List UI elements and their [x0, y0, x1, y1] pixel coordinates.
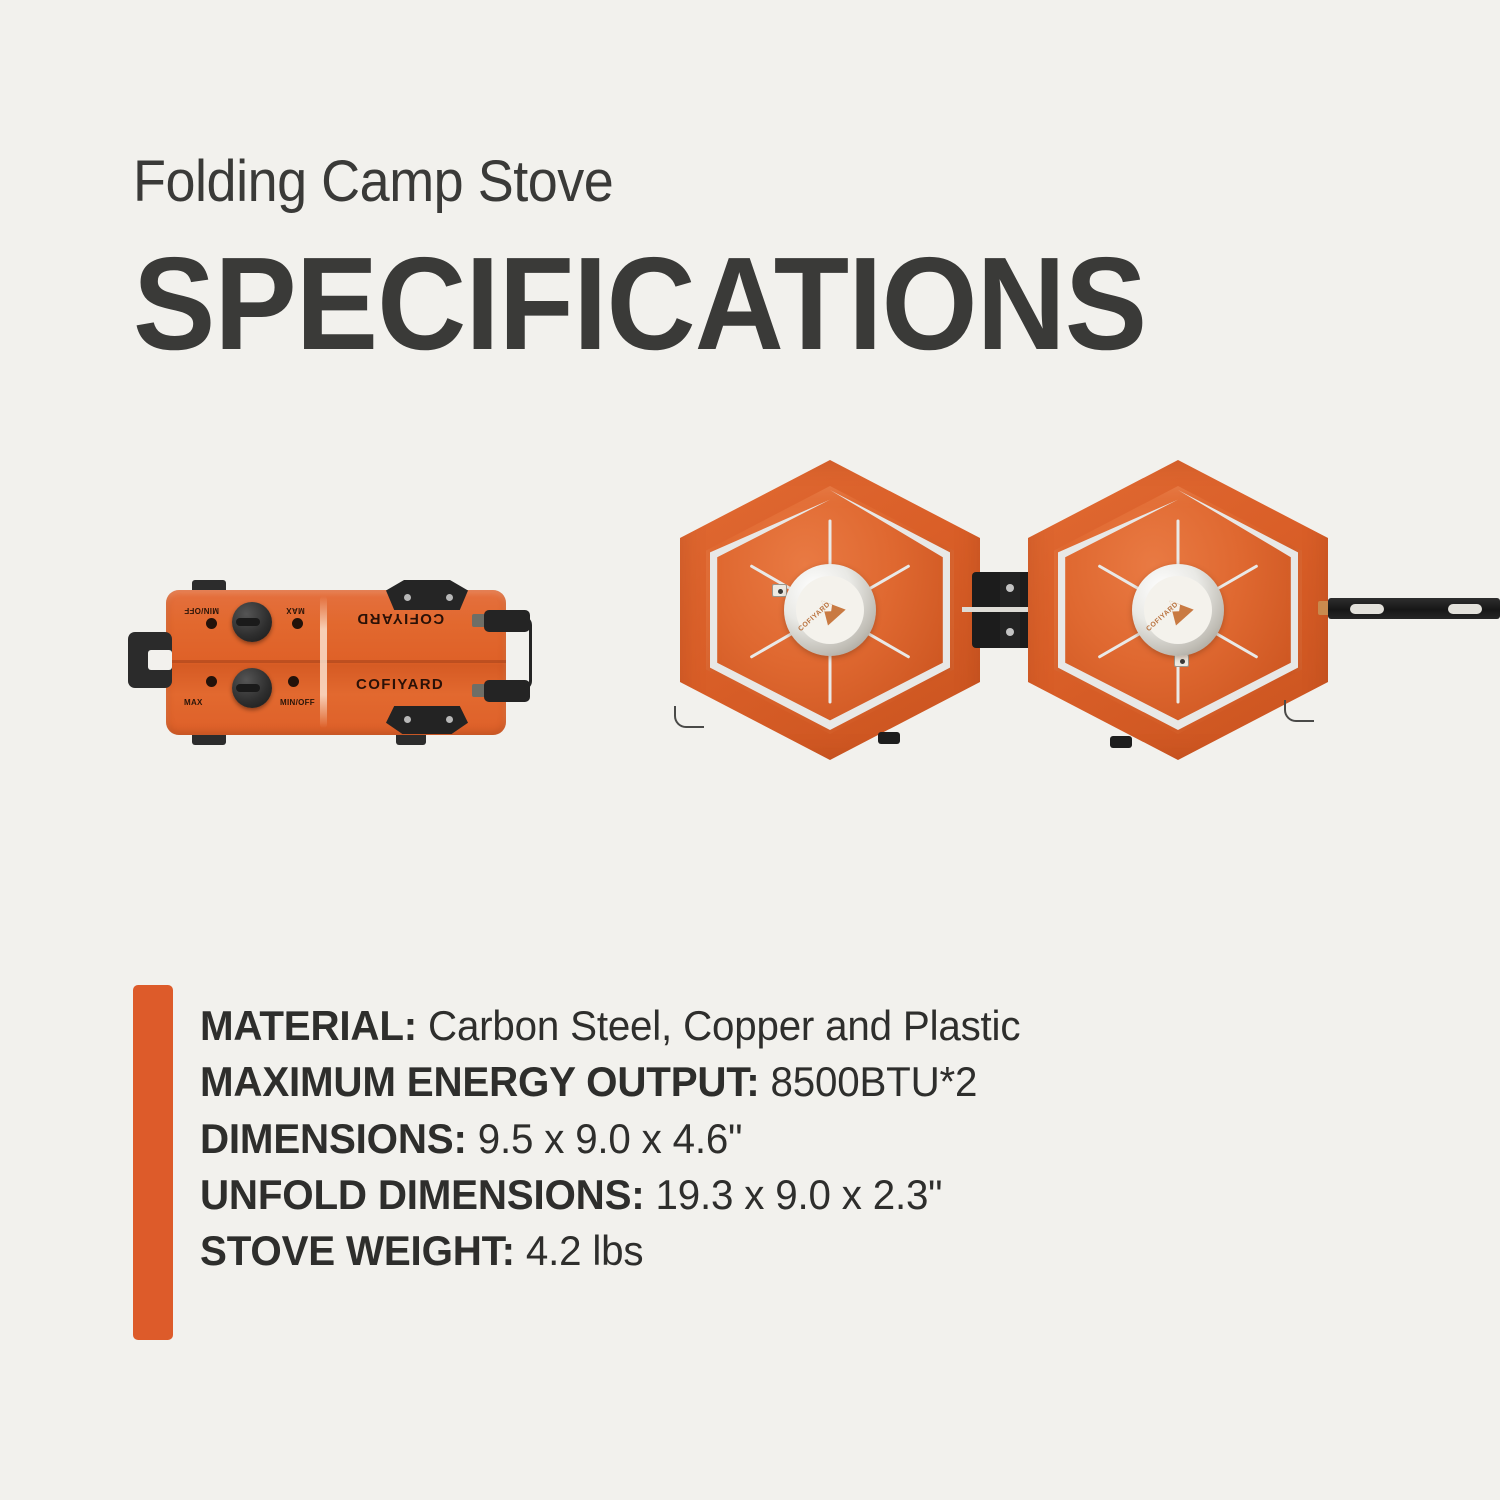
folded-stove-seam: [166, 660, 506, 663]
spec-value: 8500BTU*2: [760, 1058, 978, 1105]
brand-wordmark: COFIYARD: [356, 610, 444, 627]
folded-stove-image: MIN/OFF MAX MAX MIN/OFF COFIYARD COFIYAR…: [128, 580, 548, 745]
knob-label-min-off: MIN/OFF: [184, 606, 219, 615]
extension-slot-icon: [1350, 604, 1384, 614]
knob-marker-icon: [292, 618, 303, 629]
rivet-icon: [404, 716, 411, 723]
burner-right: COFIYARD: [1028, 460, 1328, 760]
control-knob-bottom: [232, 668, 272, 708]
rivet-icon: [446, 594, 453, 601]
extension-slot-icon: [1448, 604, 1482, 614]
spec-label: STOVE WEIGHT:: [200, 1227, 515, 1274]
spec-value: 19.3 x 9.0 x 2.3": [645, 1171, 943, 1218]
burner-left: COFIYARD: [680, 460, 980, 760]
page-subtitle: Folding Camp Stove: [133, 152, 1156, 213]
spec-label: MAXIMUM ENERGY OUTPUT:: [200, 1058, 760, 1105]
extension-arm: [1328, 598, 1500, 619]
spec-row: UNFOLD DIMENSIONS: 19.3 x 9.0 x 2.3": [200, 1167, 1285, 1223]
burner-face: COFIYARD: [1144, 576, 1212, 644]
brand-wordmark: COFIYARD: [356, 676, 444, 693]
rivet-icon: [404, 594, 411, 601]
rivet-icon: [446, 716, 453, 723]
mountain-logo-icon: [1154, 586, 1202, 634]
spec-row: STOVE WEIGHT: 4.2 lbs: [200, 1223, 1285, 1279]
spec-value: 4.2 lbs: [515, 1227, 643, 1274]
gas-line-icon: [1284, 700, 1314, 722]
gloss-highlight: [320, 596, 327, 728]
burner-cap: COFIYARD: [784, 564, 876, 656]
product-image-stage: MIN/OFF MAX MAX MIN/OFF COFIYARD COFIYAR…: [0, 440, 1500, 840]
page-title: SPECIFICATIONS: [133, 241, 1162, 368]
knob-marker-icon: [206, 618, 217, 629]
spec-label: MATERIAL:: [200, 1002, 417, 1049]
burner-foot-icon: [1110, 736, 1132, 748]
latch-wire-icon: [520, 616, 532, 690]
carry-handle-icon: [128, 632, 172, 688]
rivet-icon: [1006, 584, 1014, 592]
accent-bar: [133, 985, 173, 1340]
spec-row: DIMENSIONS: 9.5 x 9.0 x 4.6": [200, 1111, 1285, 1167]
hinge-plate-icon: [386, 580, 468, 610]
unfolded-stove-image: COFIYARD: [660, 460, 1500, 780]
spec-row: MAXIMUM ENERGY OUTPUT: 8500BTU*2: [200, 1054, 1285, 1110]
burner-face: COFIYARD: [796, 576, 864, 644]
mountain-logo-icon: [806, 586, 854, 634]
rivet-icon: [1006, 628, 1014, 636]
knob-label-max: MAX: [184, 698, 203, 707]
knob-label-min-off: MIN/OFF: [280, 698, 315, 707]
specifications-list: MATERIAL: Carbon Steel, Copper and Plast…: [200, 998, 1330, 1279]
knob-marker-icon: [206, 676, 217, 687]
spec-label: UNFOLD DIMENSIONS:: [200, 1171, 645, 1218]
control-knob-top: [232, 602, 272, 642]
knob-label-max: MAX: [286, 606, 305, 615]
igniter-icon: [772, 584, 787, 597]
knob-marker-icon: [288, 676, 299, 687]
gas-line-icon: [674, 706, 704, 728]
burner-foot-icon: [878, 732, 900, 744]
spec-row: MATERIAL: Carbon Steel, Copper and Plast…: [200, 998, 1285, 1054]
spec-value: 9.5 x 9.0 x 4.6": [467, 1115, 743, 1162]
spec-label: DIMENSIONS:: [200, 1115, 467, 1162]
hinge-plate-icon: [386, 706, 468, 734]
spec-value: Carbon Steel, Copper and Plastic: [417, 1002, 1020, 1049]
burner-cap: COFIYARD: [1132, 564, 1224, 656]
page-header: Folding Camp Stove SPECIFICATIONS: [133, 152, 1233, 368]
